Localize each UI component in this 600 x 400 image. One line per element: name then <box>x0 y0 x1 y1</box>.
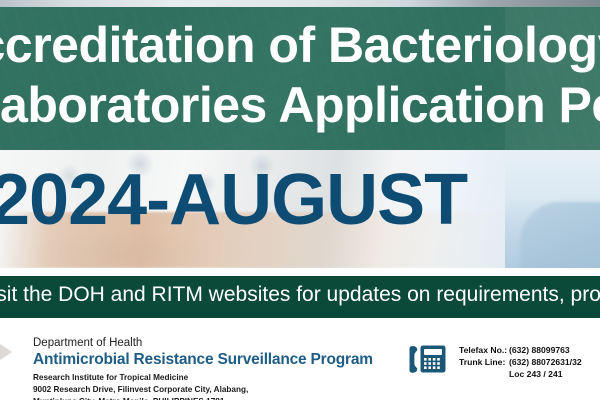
poster-canvas: Accreditation of Bacteriology Laboratori… <box>0 0 600 400</box>
title-line-1: Accreditation of Bacteriology <box>0 20 600 70</box>
desk-phone-icon <box>409 343 447 375</box>
poster-title: Accreditation of Bacteriology Laboratori… <box>0 0 600 150</box>
title-line-2: Laboratories Application Period <box>0 80 600 130</box>
footer-department: Department of Health <box>33 336 373 350</box>
doh-chevron-logo <box>0 338 22 366</box>
footer-identity-block: Department of Health Antimicrobial Resis… <box>33 336 373 400</box>
footer-address-line-1: 9002 Research Drive, Filinvest Corporate… <box>33 384 373 396</box>
date-range-headline: 2024-AUGUST <box>0 164 467 236</box>
trunk-line-label: Trunk Line: <box>459 356 509 368</box>
footer-program-name: Antimicrobial Resistance Surveillance Pr… <box>33 351 373 370</box>
telefax-row: Telefax No.:(632) 88099763 <box>459 344 582 356</box>
telefax-value: (632) 88099763 <box>509 345 570 355</box>
cta-banner: Visit the DOH and RITM websites for upda… <box>0 276 600 318</box>
footer-institute: Research Institute for Tropical Medicine <box>33 372 373 384</box>
telefax-label: Telefax No.: <box>459 344 509 356</box>
contact-block: Telefax No.:(632) 88099763 Trunk Line:(6… <box>459 344 582 381</box>
cta-banner-text: Visit the DOH and RITM websites for upda… <box>0 283 600 307</box>
trunk-line-value: (632) 88072631/32 <box>509 357 582 367</box>
footer-address-line-2: Muntinlupa City, Metro Manila, PHILIPPIN… <box>33 396 373 400</box>
trunk-line-row: Trunk Line:(632) 88072631/32 <box>459 356 582 368</box>
trunk-line-loc: Loc 243 / 241 <box>459 368 582 380</box>
